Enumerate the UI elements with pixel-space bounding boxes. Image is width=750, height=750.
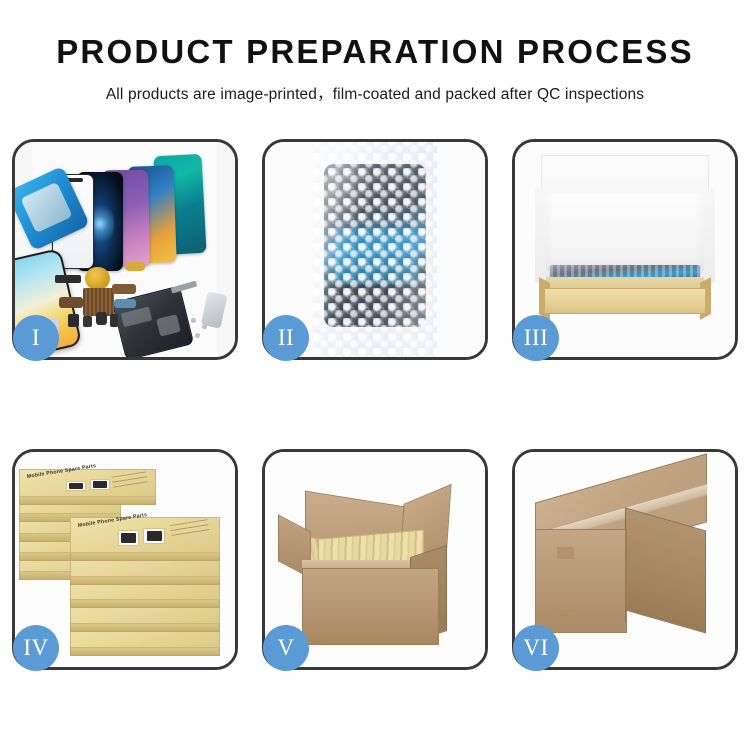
- carton-front-face: [302, 568, 438, 645]
- steps-grid: I II: [12, 139, 738, 670]
- box-artwork-screen-b: [143, 528, 165, 544]
- step-badge-5: V: [263, 625, 309, 671]
- flex-cable-a: [59, 297, 83, 308]
- box-side-face: [70, 624, 220, 632]
- earpiece-part: [55, 275, 81, 283]
- step-panel-3: III: [512, 139, 738, 360]
- flex-cable-c: [114, 299, 136, 308]
- step-panel-2: II: [262, 139, 488, 360]
- screw-1: [191, 318, 196, 323]
- sealed-carton-side: [625, 507, 706, 634]
- step-panel-1: I: [12, 139, 238, 360]
- flex-cable-b: [112, 284, 136, 294]
- step-badge-3: III: [513, 315, 559, 361]
- product-preparation-infographic: PRODUCT PREPARATION PROCESS All products…: [0, 0, 750, 750]
- step-badge-1: I: [13, 315, 59, 361]
- box-side-face: [70, 648, 220, 656]
- foam-liner: [546, 194, 704, 271]
- step-panel-6: VI: [512, 449, 738, 670]
- step-badge-2: II: [263, 315, 309, 361]
- retail-box-left-top: Mobile Phone Spare Parts: [19, 469, 155, 497]
- page-subtitle: All products are image-printed，film-coat…: [0, 82, 750, 104]
- step-panel-4: Mobile Phone Spare Parts: [12, 449, 238, 670]
- step-badge-4: IV: [13, 625, 59, 671]
- box-artwork-screen-b: [90, 479, 110, 490]
- box-artwork-screen-a: [118, 530, 139, 546]
- box-spec-lines: [111, 471, 147, 488]
- box-artwork-screen-a: [66, 481, 86, 492]
- step-badge-6: VI: [513, 625, 559, 671]
- retail-box-right-top: Mobile Phone Spare Parts: [70, 517, 220, 554]
- button-part: [125, 262, 145, 271]
- box-spec-lines: [170, 519, 210, 540]
- sealed-carton-front: [535, 529, 627, 632]
- box-side-face: [70, 600, 220, 608]
- page-title: PRODUCT PREPARATION PROCESS: [0, 34, 750, 71]
- plastic-gloss: [313, 142, 436, 357]
- box-side-face: [19, 497, 155, 505]
- box-side-face: [70, 577, 220, 585]
- box-top-face: Mobile Phone Spare Parts: [70, 517, 220, 554]
- small-part-1: [68, 314, 79, 327]
- step-panel-5: V: [262, 449, 488, 670]
- carton-handle-tab-top: [557, 547, 575, 560]
- carton-corner-edge: [625, 519, 626, 622]
- small-part-2: [83, 316, 92, 327]
- small-part-3: [96, 312, 107, 325]
- box-top-face: Mobile Phone Spare Parts: [19, 469, 155, 497]
- box-front-panel: [544, 288, 707, 314]
- carton-handle-tab-bottom: [557, 609, 575, 622]
- header: PRODUCT PREPARATION PROCESS All products…: [0, 0, 750, 104]
- small-part-4: [110, 314, 119, 327]
- box-label-text: Mobile Phone Spare Parts: [27, 463, 97, 480]
- box-side-face: [70, 553, 220, 561]
- speaker-part: [85, 267, 109, 291]
